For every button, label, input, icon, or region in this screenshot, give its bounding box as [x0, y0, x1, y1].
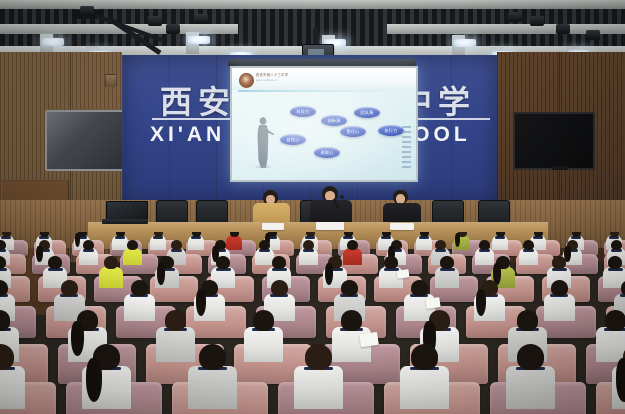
- stage-spotlight: [530, 16, 544, 26]
- audience-student: [379, 256, 403, 291]
- speaker-papers: [262, 223, 284, 230]
- microphone-head-icon: [340, 195, 344, 199]
- student-head: [551, 280, 568, 296]
- slide-bubble: 创新源: [321, 115, 347, 126]
- student-uniform: [506, 366, 555, 410]
- student-uniform: [544, 294, 575, 321]
- audience-student: [99, 256, 123, 291]
- student-head: [517, 310, 539, 331]
- audience-student: [454, 232, 470, 251]
- student-uniform: [244, 327, 283, 362]
- audience-student: [188, 344, 237, 414]
- speaker-papers: [390, 223, 414, 230]
- student-handout: [425, 297, 441, 309]
- student-head: [230, 232, 239, 237]
- slide-bubble: 执行力: [378, 125, 404, 136]
- student-head: [154, 232, 163, 237]
- student-head: [272, 256, 286, 269]
- empty-chair: [478, 200, 510, 224]
- student-uniform: [294, 366, 343, 410]
- student-head: [253, 310, 275, 331]
- student-uniform: [188, 366, 237, 410]
- projection-screen: 西安市第八十三中学 www.xa83zx.cn 科技力创新源团队情责任心执行力自…: [230, 66, 418, 182]
- slide-logo-url: www.xa83zx.cn: [256, 79, 278, 82]
- student-head: [259, 240, 270, 250]
- audience-student: [506, 344, 555, 414]
- student-head: [420, 232, 429, 237]
- monitor-bracket: [552, 166, 568, 170]
- student-head: [341, 310, 363, 331]
- student-uniform: [124, 294, 155, 321]
- slide-bubble: 进取心: [314, 147, 340, 158]
- student-head: [61, 280, 78, 296]
- audience-student: [123, 240, 142, 267]
- student-head: [341, 280, 358, 296]
- student-uniform: [400, 366, 449, 410]
- student-head: [199, 344, 227, 370]
- audience-student: [150, 232, 166, 251]
- ceiling-light: [42, 38, 64, 46]
- audience-student: [124, 280, 155, 323]
- slide-bubble: 自信心: [280, 134, 306, 145]
- presenter-silhouette-icon: [255, 116, 275, 168]
- audience-student: [194, 280, 225, 323]
- student-head: [605, 310, 625, 331]
- student-ponytail: [157, 263, 165, 285]
- empty-chair: [196, 200, 228, 224]
- student-head: [306, 232, 315, 237]
- slide-logo-text: 西安市第八十三中学: [256, 73, 288, 77]
- right-wall-monitor: [513, 112, 595, 170]
- slide-bubble: 责任心: [340, 126, 366, 137]
- ceiling-light: [188, 36, 210, 44]
- screen-housing: [228, 59, 416, 66]
- student-ponytail: [86, 358, 102, 402]
- student-head: [384, 256, 398, 269]
- audience-student: [519, 240, 538, 267]
- stage-spotlight: [166, 24, 180, 34]
- audience-area: [0, 232, 625, 414]
- student-head: [104, 256, 118, 269]
- student-head: [572, 232, 581, 237]
- stage-spotlight: [556, 24, 570, 34]
- student-head: [344, 232, 353, 237]
- student-head: [127, 240, 138, 250]
- student-uniform: [123, 248, 142, 265]
- left-wall-monitor: [45, 110, 131, 171]
- stage-spotlight: [508, 12, 522, 22]
- student-head: [83, 240, 94, 250]
- audience-student: [0, 344, 25, 414]
- student-head: [192, 232, 201, 237]
- ceiling-light: [454, 39, 476, 47]
- stage-spotlight: [586, 30, 600, 40]
- auditorium-photo: 西安 XI'AN 中学 HOOL 西安市第八十三中学 www.xa83zx.cn…: [0, 0, 625, 414]
- presenter-laptop-base: [102, 219, 148, 224]
- student-uniform: [99, 267, 123, 289]
- audience-student: [544, 280, 575, 323]
- student-head: [411, 344, 439, 370]
- student-head: [216, 256, 230, 269]
- student-head: [523, 240, 534, 250]
- audience-student: [299, 240, 318, 267]
- student-head: [435, 240, 446, 250]
- audience-student: [294, 344, 343, 414]
- student-head: [48, 256, 62, 269]
- audience-student: [188, 232, 204, 251]
- student-head: [40, 232, 49, 237]
- student-handout: [359, 332, 379, 347]
- speaker-papers: [316, 222, 344, 230]
- stage-spotlight: [80, 6, 94, 16]
- wall-vent: [105, 74, 117, 87]
- student-ponytail: [36, 246, 42, 263]
- student-head: [171, 240, 182, 250]
- student-head: [517, 344, 545, 370]
- student-head: [303, 240, 314, 250]
- student-head: [552, 256, 566, 269]
- empty-chair: [432, 200, 464, 224]
- student-head: [610, 232, 619, 237]
- audience-student: [82, 344, 131, 414]
- student-head: [440, 256, 454, 269]
- student-head: [479, 240, 490, 250]
- student-head: [534, 232, 543, 237]
- student-head: [305, 344, 333, 370]
- audience-student: [612, 344, 625, 414]
- student-head: [116, 232, 125, 237]
- student-head: [165, 310, 187, 331]
- audience-student: [416, 232, 432, 251]
- school-logo-icon: [239, 73, 254, 88]
- stage-spotlight: [148, 16, 162, 26]
- empty-chair: [156, 200, 188, 224]
- student-head: [411, 280, 428, 296]
- ceiling-camera: [194, 14, 208, 24]
- slide-side-list: [402, 126, 411, 170]
- student-head: [347, 240, 358, 250]
- student-ponytail: [325, 263, 333, 285]
- student-head: [2, 232, 11, 237]
- backdrop-chinese-left: 西安: [160, 77, 236, 123]
- student-uniform: [0, 366, 25, 410]
- audience-student: [435, 256, 459, 291]
- student-head: [608, 256, 622, 269]
- audience-student: [79, 240, 98, 267]
- student-head: [271, 280, 288, 296]
- audience-student: [400, 344, 449, 414]
- backdrop-english-left: XI'AN: [150, 123, 225, 147]
- slide-header-rule: [238, 90, 406, 92]
- audience-student: [244, 310, 283, 365]
- slide-bubble: 团队情: [354, 107, 380, 118]
- student-head: [496, 232, 505, 237]
- student-head: [611, 240, 622, 250]
- student-head: [131, 280, 148, 296]
- audience-student: [474, 280, 505, 323]
- audience-student: [492, 232, 508, 251]
- audience-student: [155, 256, 179, 291]
- slide-bubble: 科技力: [290, 106, 316, 117]
- student-head: [382, 232, 391, 237]
